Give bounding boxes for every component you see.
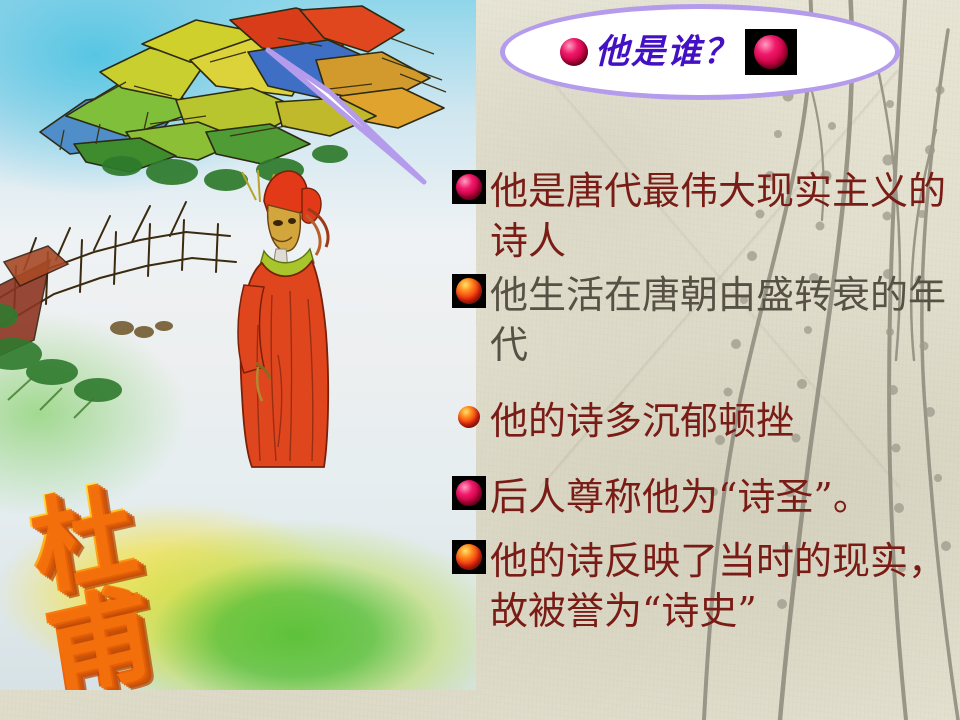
- poet-illustration: 杜甫: [0, 0, 476, 690]
- spacer: [452, 526, 952, 536]
- orange-sphere-icon: [452, 400, 486, 434]
- spacer: [452, 374, 952, 396]
- spacer: [452, 450, 952, 472]
- crimson-sphere-icon: [452, 476, 486, 510]
- bubble-right-sphere-icon: [745, 29, 797, 75]
- bullet-list: 他是唐代最伟大现实主义的诗人 他生活在唐朝由盛转衰的年代 他的诗多沉郁顿挫 后人…: [452, 166, 952, 640]
- list-item-label: 他的诗反映了当时的现实，故被誉为“诗史”: [490, 536, 952, 636]
- list-item-label: 他的诗多沉郁顿挫: [490, 396, 952, 446]
- orange-sphere-icon: [452, 540, 486, 574]
- list-item[interactable]: 他的诗多沉郁顿挫: [452, 396, 952, 446]
- bubble-left-sphere-icon: [559, 37, 589, 67]
- list-item-label: 他是唐代最伟大现实主义的诗人: [490, 166, 952, 266]
- poet-figure-icon: [228, 155, 348, 475]
- list-item-label: 他生活在唐朝由盛转衰的年代: [490, 270, 952, 370]
- wordart-title: 杜甫: [21, 459, 257, 670]
- speech-bubble[interactable]: 他是谁？: [500, 4, 900, 100]
- slide-canvas: 杜甫 他是谁？ 他是唐代最伟大现实主义的诗人 他生活在唐朝由盛转衰的年代: [0, 0, 960, 720]
- list-item[interactable]: 后人尊称他为“诗圣”。: [452, 472, 952, 522]
- list-item[interactable]: 他生活在唐朝由盛转衰的年代: [452, 270, 952, 370]
- wordart-text: 杜甫: [22, 451, 260, 690]
- crimson-sphere-icon: [452, 170, 486, 204]
- bubble-text: 他是谁？: [595, 35, 739, 69]
- orange-sphere-icon: [452, 274, 486, 308]
- list-item[interactable]: 他是唐代最伟大现实主义的诗人: [452, 166, 952, 266]
- list-item-label: 后人尊称他为“诗圣”。: [490, 472, 952, 522]
- list-item[interactable]: 他的诗反映了当时的现实，故被誉为“诗史”: [452, 536, 952, 636]
